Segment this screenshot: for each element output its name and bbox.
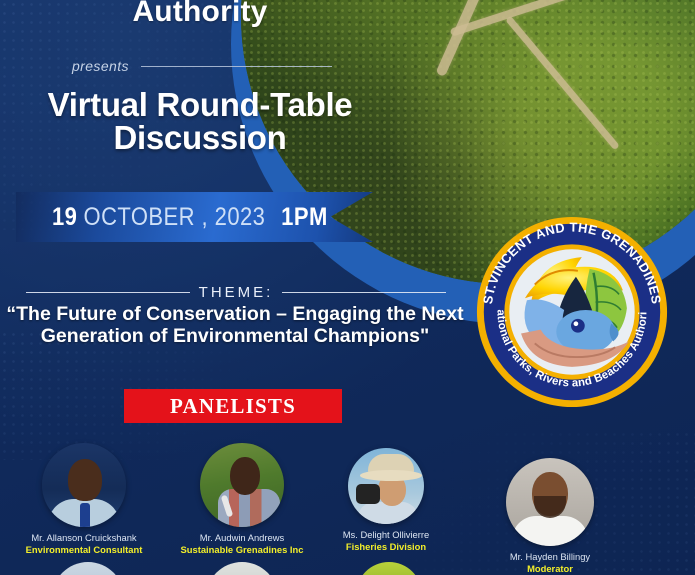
date-day: 19 xyxy=(52,203,77,232)
panelists-badge-label: PANELISTS xyxy=(170,394,296,419)
panelist-name: Mr. Audwin Andrews xyxy=(160,532,324,544)
avatar xyxy=(200,443,284,527)
theme-text: “The Future of Conservation – Engaging t… xyxy=(0,304,470,348)
theme-divider-left xyxy=(26,292,190,293)
headline-block: Authority xyxy=(0,0,400,28)
avatar-tie xyxy=(80,503,90,527)
panelist-role: Fisheries Division xyxy=(308,541,464,553)
panelist-name: Ms. Delight Ollivierre xyxy=(308,529,464,541)
avatar xyxy=(42,443,126,527)
panelist-card: Ms. Delight Ollivierre Fisheries Divisio… xyxy=(308,448,464,553)
event-title: Virtual Round-Table Discussion xyxy=(0,88,400,154)
panelist-role: Sustainable Grenadines Inc xyxy=(160,544,324,556)
theme-header-row: THEME: xyxy=(26,284,446,301)
panelist-role: Moderator xyxy=(462,563,638,575)
date-month-year: OCTOBER , 2023 xyxy=(84,203,266,232)
panelist-role: Environmental Consultant xyxy=(2,544,166,556)
camera-icon xyxy=(356,484,380,504)
panelists-badge: PANELISTS xyxy=(124,389,342,423)
logo-fish-eye-glint xyxy=(574,321,579,326)
avatar xyxy=(506,458,594,546)
theme-label: THEME: xyxy=(199,284,274,301)
panelist-card: Mr. Allanson Cruickshank Environmental C… xyxy=(2,443,166,556)
avatar-hat-brim xyxy=(360,470,422,481)
avatar xyxy=(348,448,424,524)
presents-divider xyxy=(141,66,332,67)
npra-logo: ST.VINCENT AND THE GRENADINES National P… xyxy=(474,214,670,410)
panelist-card: Mr. Audwin Andrews Sustainable Grenadine… xyxy=(160,443,324,556)
avatar-shirt xyxy=(512,516,588,546)
avatar-face xyxy=(68,459,102,501)
presents-row: presents xyxy=(72,58,332,74)
ribbon-text: 19 OCTOBER , 2023 1PM xyxy=(52,192,328,242)
event-title-line-1: Virtual Round-Table xyxy=(0,88,400,121)
panelist-card: Mr. Hayden Billingy Moderator xyxy=(462,458,638,575)
date-time-ribbon: 19 OCTOBER , 2023 1PM xyxy=(16,192,373,242)
presents-label: presents xyxy=(72,58,129,74)
panelist-name: Mr. Hayden Billingy xyxy=(462,551,638,563)
avatar-beard xyxy=(534,496,566,518)
organization-title: Authority xyxy=(0,0,400,28)
logo-fish-eye xyxy=(571,319,585,333)
poster-canvas: Authority presents Virtual Round-Table D… xyxy=(0,0,695,575)
panelist-name: Mr. Allanson Cruickshank xyxy=(2,532,166,544)
theme-divider-right xyxy=(282,292,446,293)
event-time: 1PM xyxy=(281,203,328,232)
event-title-line-2: Discussion xyxy=(0,121,400,154)
avatar-face xyxy=(230,457,260,495)
panelists-row: Mr. Allanson Cruickshank Environmental C… xyxy=(0,440,695,575)
